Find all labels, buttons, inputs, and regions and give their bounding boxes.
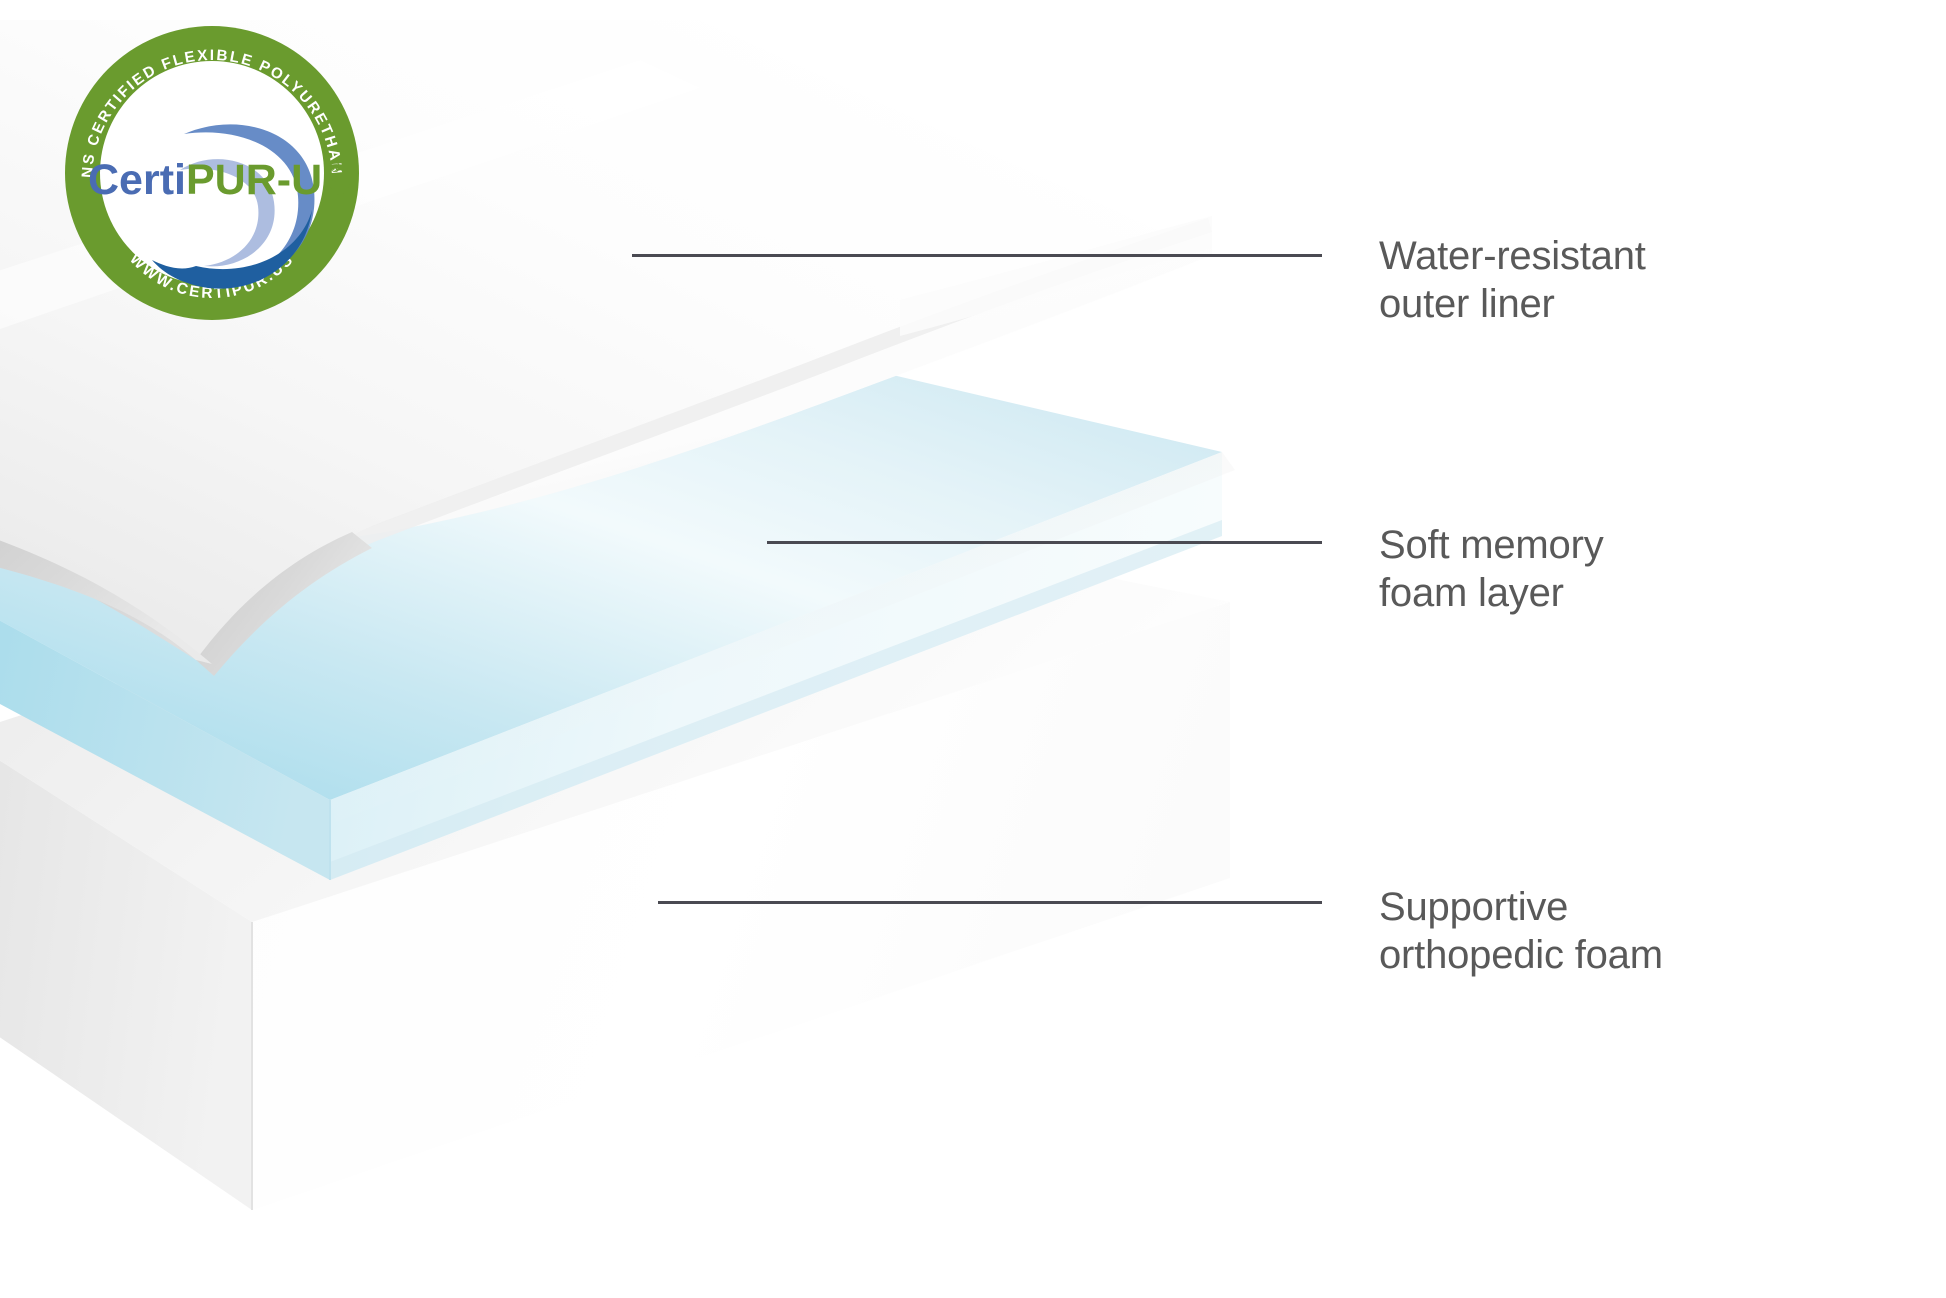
certipur-us-badge: CONTAINS CERTIFIED FLEXIBLE POLYURETHANE… [62, 22, 362, 324]
callout-label-outer-liner: Water-resistant outer liner [1379, 232, 1646, 328]
callout-supportive-orthopedic-foam: Supportive orthopedic foam [1379, 883, 1663, 979]
leader-line-outer-liner [632, 254, 1322, 257]
leader-line-base-foam [658, 901, 1322, 904]
badge-wordmark-purus: PUR-US [186, 156, 351, 204]
leader-line-memory-foam [767, 541, 1322, 544]
callout-label-base-foam: Supportive orthopedic foam [1379, 883, 1663, 979]
page-canvas: CONTAINS CERTIFIED FLEXIBLE POLYURETHANE… [0, 0, 1946, 1298]
badge-registered-mark: ® [330, 159, 341, 175]
callout-soft-memory-foam-layer: Soft memory foam layer [1379, 521, 1604, 617]
callout-label-memory-foam: Soft memory foam layer [1379, 521, 1604, 617]
callout-water-resistant-outer-liner: Water-resistant outer liner [1379, 232, 1646, 328]
badge-wordmark-certi: Certi [88, 156, 186, 204]
badge-wordmark: Certi PUR-US ® [88, 156, 351, 204]
